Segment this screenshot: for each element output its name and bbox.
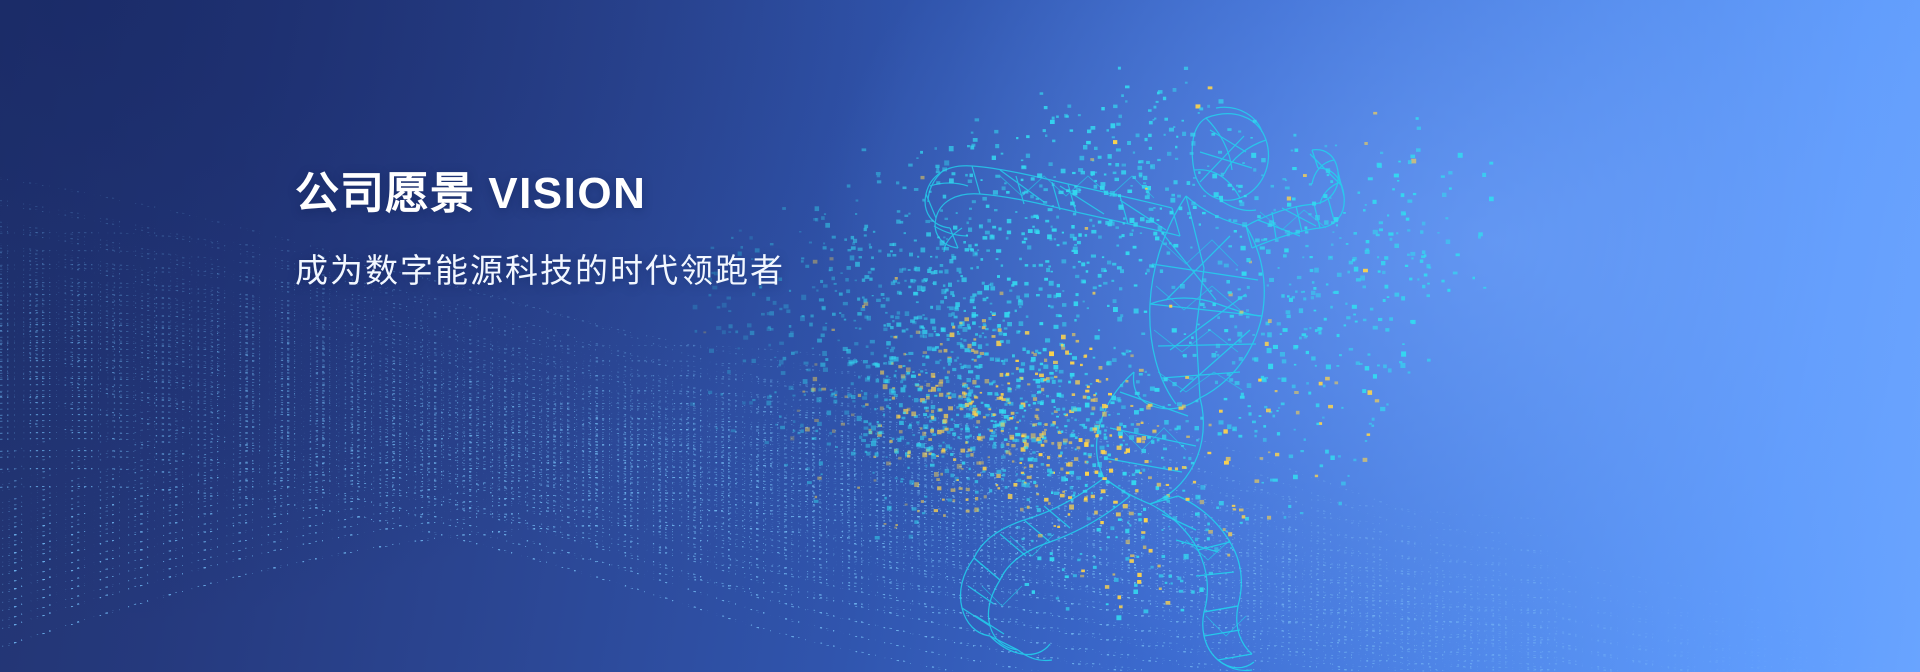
headline-chinese: 公司愿景 [295,169,475,218]
runner-wireframe-graphic [0,0,1920,672]
wave-mesh-graphic [0,0,1920,672]
banner-text-block: 公司愿景 VISION 成为数字能源科技的时代领跑者 [295,168,785,293]
headline-english: VISION [488,169,646,218]
particle-field [690,67,1493,621]
vignette-overlay [0,0,1920,672]
vision-banner: 公司愿景 VISION 成为数字能源科技的时代领跑者 [0,0,1920,672]
page-title: 公司愿景 VISION [295,168,785,220]
page-subtitle: 成为数字能源科技的时代领跑者 [295,250,785,293]
